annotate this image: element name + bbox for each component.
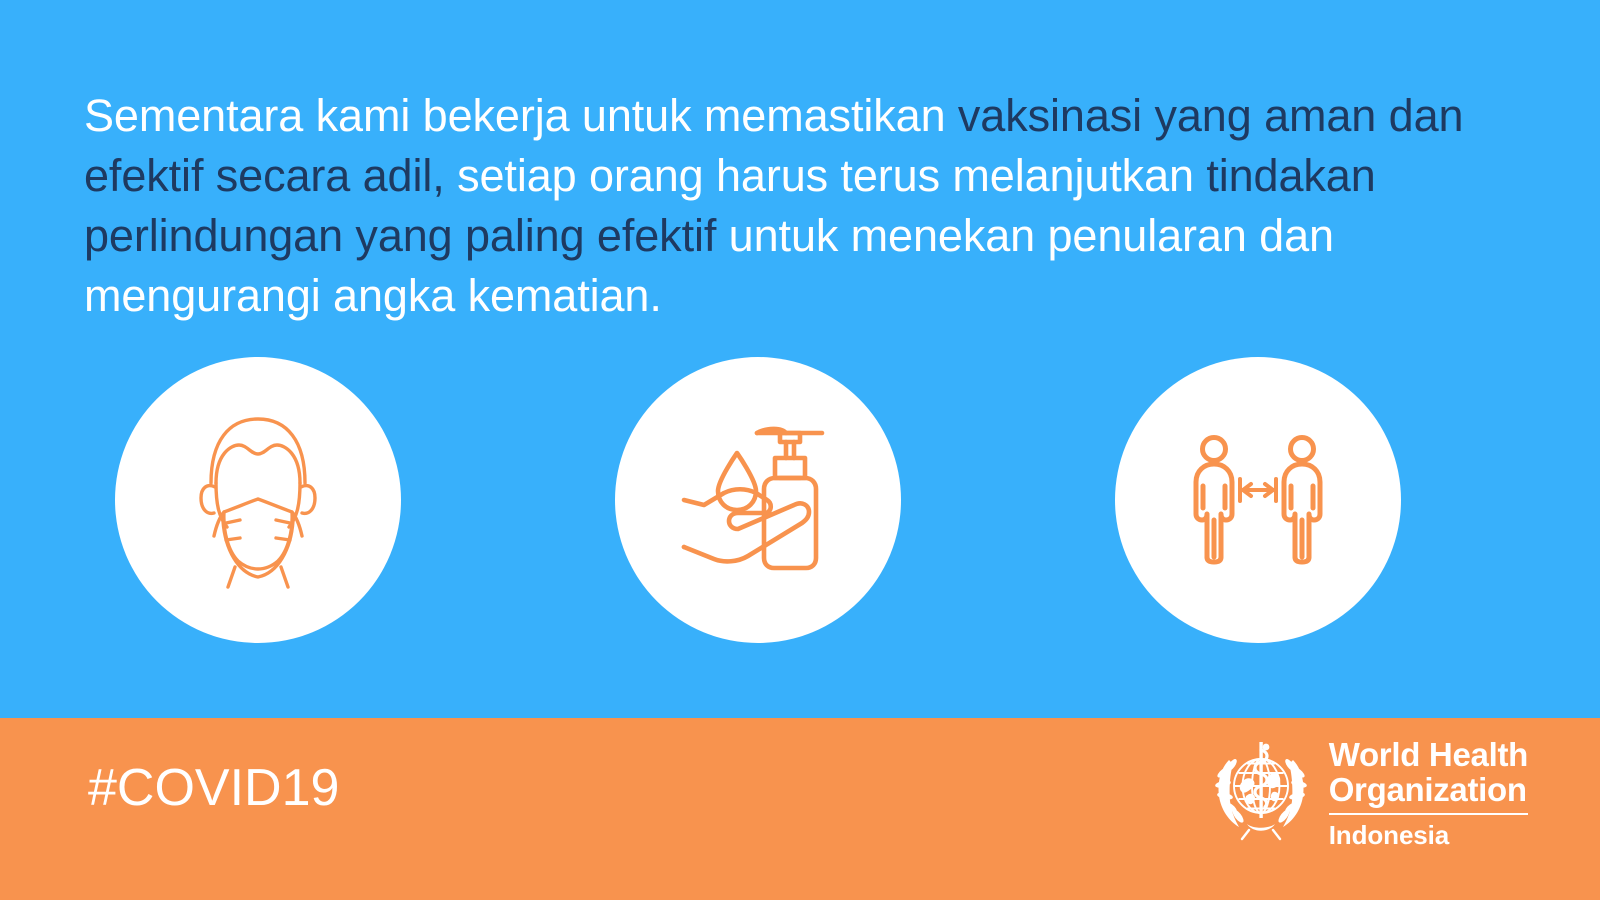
who-wordmark: World Health Organization Indonesia [1329,735,1528,850]
icon-circle-face-mask [115,357,401,643]
icon-circle-physical-distancing [1115,357,1401,643]
who-logo-lockup: World Health Organization Indonesia [1209,735,1528,853]
headline-segment-3: setiap orang harus terus melanjutkan [445,150,1207,201]
who-divider-rule [1329,813,1528,815]
icon-circle-hand-sanitizer [615,357,901,643]
hashtag-covid19: #COVID19 [88,758,339,818]
prevention-icon-row [0,357,1600,643]
who-emblem-icon [1209,738,1313,842]
physical-distancing-icon [1183,435,1333,565]
face-mask-icon [183,409,333,591]
who-name-line-2: Organization [1329,772,1528,807]
headline-text: Sementara kami bekerja untuk memastikan … [84,86,1484,326]
poster-canvas: Sementara kami bekerja untuk memastikan … [0,0,1600,900]
hand-sanitizer-icon [676,425,840,575]
who-region-label: Indonesia [1329,820,1528,850]
who-name-line-1: World Health [1329,737,1528,772]
headline-segment-1: Sementara kami bekerja untuk memastikan [84,90,958,141]
